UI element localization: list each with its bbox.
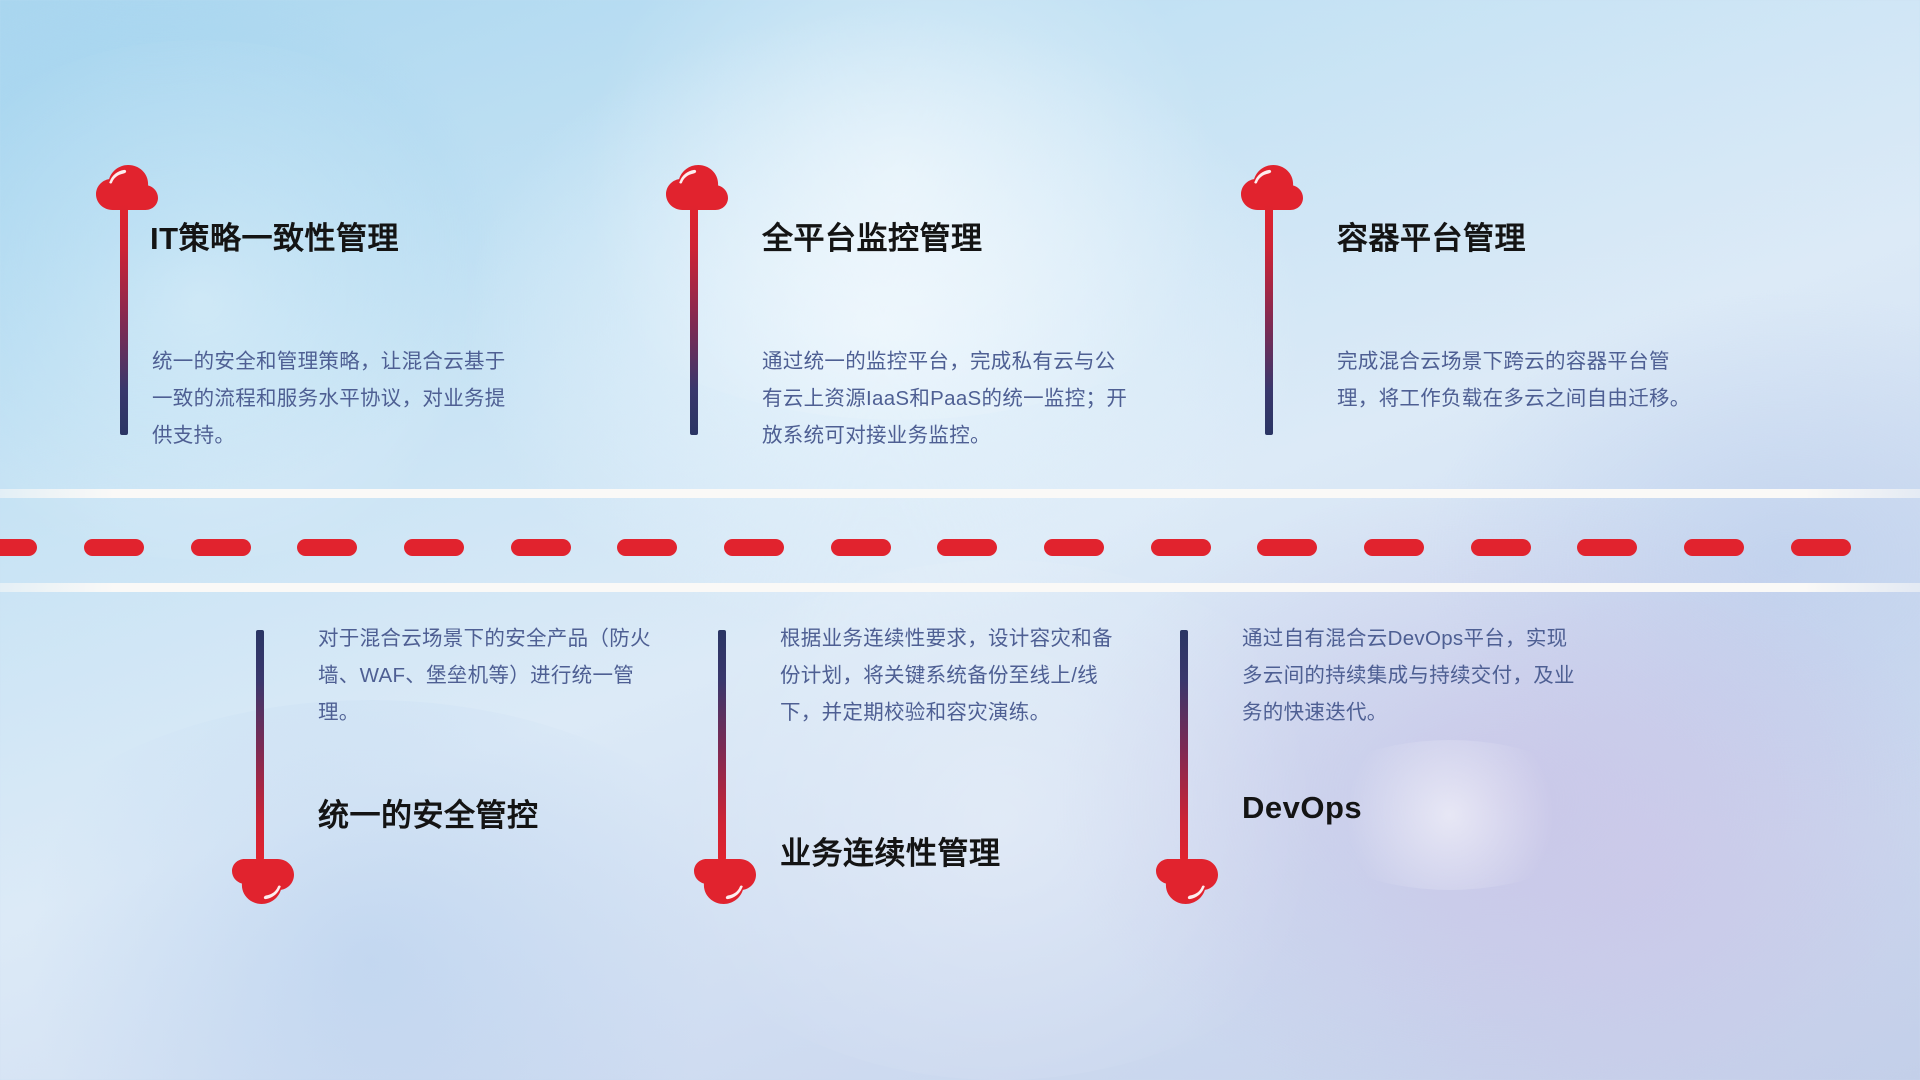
card-body: 通过自有混合云DevOps平台，实现多云间的持续集成与持续交付，及业务的快速迭代… bbox=[1242, 620, 1582, 731]
card-body: 完成混合云场景下跨云的容器平台管理，将工作负载在多云之间自由迁移。 bbox=[1337, 343, 1707, 417]
road-dash bbox=[937, 539, 997, 556]
cloud-icon bbox=[694, 858, 756, 904]
pin-stem bbox=[690, 205, 698, 435]
road-dash bbox=[617, 539, 677, 556]
card-body: 通过统一的监控平台，完成私有云与公有云上资源IaaS和PaaS的统一监控；开放系… bbox=[762, 343, 1132, 454]
road-dash bbox=[404, 539, 464, 556]
road-dash-strip bbox=[0, 539, 1920, 556]
cloud-icon bbox=[666, 165, 728, 211]
pin-stem bbox=[1180, 630, 1188, 860]
road-dash bbox=[831, 539, 891, 556]
road-dash bbox=[511, 539, 571, 556]
road-dash bbox=[1791, 539, 1851, 556]
road-line-top bbox=[0, 489, 1920, 498]
road-dash bbox=[1257, 539, 1317, 556]
card-body: 根据业务连续性要求，设计容灾和备份计划，将关键系统备份至线上/线下，并定期校验和… bbox=[780, 620, 1132, 731]
card-title: 全平台监控管理 bbox=[762, 213, 983, 258]
pin-stem bbox=[120, 205, 128, 435]
road-dash bbox=[297, 539, 357, 556]
card-title: 容器平台管理 bbox=[1337, 213, 1526, 258]
cloud-icon bbox=[1241, 165, 1303, 211]
road-dash bbox=[1471, 539, 1531, 556]
road-dash bbox=[0, 539, 37, 556]
card-body: 统一的安全和管理策略，让混合云基于一致的流程和服务水平协议，对业务提供支持。 bbox=[152, 343, 512, 454]
cloud-icon bbox=[1156, 858, 1218, 904]
card-title: DevOps bbox=[1242, 790, 1362, 826]
road-line-bottom bbox=[0, 583, 1920, 592]
cloud-icon bbox=[96, 165, 158, 211]
road-dash bbox=[1684, 539, 1744, 556]
pin-stem bbox=[256, 630, 264, 860]
road-dash bbox=[191, 539, 251, 556]
card-title: 统一的安全管控 bbox=[318, 790, 539, 835]
cloud-icon bbox=[232, 858, 294, 904]
pin-stem bbox=[1265, 205, 1273, 435]
card-title: 业务连续性管理 bbox=[780, 828, 1001, 873]
road-dash bbox=[1364, 539, 1424, 556]
road-dash bbox=[84, 539, 144, 556]
road-dash bbox=[1151, 539, 1211, 556]
card-body: 对于混合云场景下的安全产品（防火墙、WAF、堡垒机等）进行统一管理。 bbox=[318, 620, 670, 731]
background-blob bbox=[0, 40, 520, 560]
road-dash bbox=[724, 539, 784, 556]
card-title: IT策略一致性管理 bbox=[150, 213, 399, 258]
background-blob bbox=[0, 700, 780, 1080]
road-dash bbox=[1044, 539, 1104, 556]
pin-stem bbox=[718, 630, 726, 860]
road-dash bbox=[1577, 539, 1637, 556]
